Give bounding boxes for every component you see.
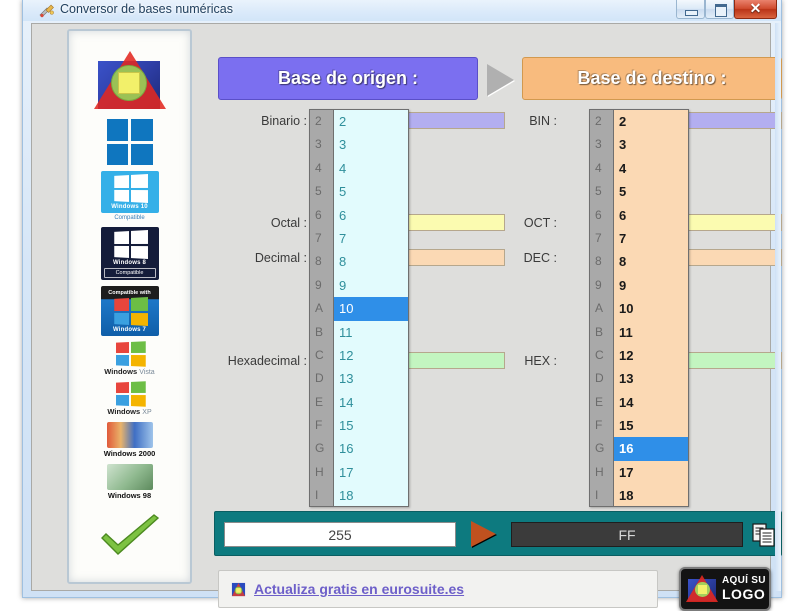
list-item[interactable]: 7 [614, 227, 688, 250]
source-gutter-char: 6 [310, 204, 333, 227]
windows-box-icon [107, 422, 153, 448]
source-gutter-char: 5 [310, 180, 333, 203]
target-row-label-0: BIN : [387, 114, 557, 128]
logo-line-2: LOGO [722, 587, 766, 602]
source-gutter-char: 2 [310, 110, 333, 133]
arrow-right-icon [487, 64, 514, 96]
target-gutter-char: I [590, 484, 613, 507]
source-row-label-1: Octal : [127, 216, 307, 230]
update-link-bar[interactable]: Actualiza gratis en eurosuite.es [218, 570, 658, 608]
source-value-input[interactable]: 255 [224, 522, 456, 547]
list-item[interactable]: 9 [614, 274, 688, 297]
list-item[interactable]: 5 [614, 180, 688, 203]
brand-logo [90, 51, 170, 113]
tools-icon [39, 3, 55, 19]
target-gutter-column: 23456789ABCDEFGHIJKLNMO [590, 110, 614, 506]
target-gutter-char: G [590, 437, 613, 460]
client-area: Windows 10 Compatible Windows 8 Compatib… [31, 23, 771, 591]
app-window: Conversor de bases numéricas ✕ Windows 1… [22, 0, 782, 598]
source-gutter-char: 4 [310, 157, 333, 180]
windows-2000-badge: Windows 2000 [99, 422, 161, 458]
target-gutter-char: D [590, 367, 613, 390]
badge-label: Windows 98 [99, 491, 161, 500]
app-icon [231, 582, 246, 597]
list-item[interactable]: 14 [334, 391, 408, 414]
result-value-output: FF [511, 522, 743, 547]
brand-logo-small [686, 573, 718, 605]
list-item[interactable]: 3 [614, 133, 688, 156]
target-base-listbox[interactable]: 23456789ABCDEFGHIJKLNMO 2345678910111213… [589, 109, 689, 507]
badge-label: Windows 2000 [99, 449, 161, 458]
target-gutter-char: 2 [590, 110, 613, 133]
convert-arrow-icon[interactable] [471, 521, 496, 547]
target-row-label-3: HEX : [387, 354, 557, 368]
list-item[interactable]: 18 [334, 484, 408, 507]
list-item[interactable]: 8 [334, 250, 408, 273]
logo-placeholder[interactable]: AQUÍ SU LOGO [679, 567, 771, 611]
source-gutter-column: 23456789ABCDEFGHIJKLNMO [310, 110, 334, 506]
badge-sublabel: Compatible [104, 268, 156, 278]
list-item[interactable]: 3 [334, 133, 408, 156]
source-gutter-char: G [310, 437, 333, 460]
target-gutter-char: 4 [590, 157, 613, 180]
list-item[interactable]: 2 [614, 110, 688, 133]
source-row-label-3: Hexadecimal : [127, 354, 307, 368]
windows-box-icon [107, 464, 153, 490]
target-gutter-char: 7 [590, 227, 613, 250]
target-base-header[interactable]: Base de destino : [522, 57, 782, 100]
list-item[interactable]: 6 [334, 204, 408, 227]
source-base-listbox[interactable]: 23456789ABCDEFGHIJKLNMO 2345678910111213… [309, 109, 409, 507]
target-gutter-char: 9 [590, 274, 613, 297]
target-row-label-1: OCT : [387, 216, 557, 230]
badge-sublabel: XP [142, 409, 151, 416]
window-edge [775, 23, 781, 591]
target-gutter-char: B [590, 321, 613, 344]
list-item[interactable]: 16 [614, 437, 688, 460]
source-row-label-0: Binario : [127, 114, 307, 128]
windows-7-badge: Compatible with Windows 7 [101, 286, 159, 336]
source-gutter-char: B [310, 321, 333, 344]
badge-sublabel: Vista [139, 369, 154, 376]
badge-label: Windows 10 [104, 204, 156, 211]
list-item[interactable]: 12 [334, 344, 408, 367]
converter-bar: 255 FF [214, 511, 782, 556]
windows-flag-icon [114, 174, 148, 203]
source-gutter-char: F [310, 414, 333, 437]
list-item[interactable]: 13 [334, 367, 408, 390]
source-gutter-char: D [310, 367, 333, 390]
maximize-button[interactable] [705, 0, 734, 19]
target-gutter-char: F [590, 414, 613, 437]
list-item[interactable]: 6 [614, 204, 688, 227]
list-item[interactable]: 4 [334, 157, 408, 180]
target-gutter-char: C [590, 344, 613, 367]
badge-label: Windows 7 [104, 327, 156, 334]
source-list-items[interactable]: 23456789101112131415161718192021222324 [334, 110, 408, 506]
source-gutter-char: H [310, 461, 333, 484]
source-base-header[interactable]: Base de origen : [218, 57, 478, 100]
target-gutter-char: 3 [590, 133, 613, 156]
minimize-button[interactable] [676, 0, 705, 19]
source-gutter-char: I [310, 484, 333, 507]
list-item[interactable]: 13 [614, 367, 688, 390]
list-item[interactable]: 17 [614, 461, 688, 484]
badge-caption: Compatible with [104, 290, 156, 296]
target-gutter-char: E [590, 391, 613, 414]
target-gutter-char: 6 [590, 204, 613, 227]
list-item[interactable]: 14 [614, 391, 688, 414]
windows-xp-badge: Windows XP [99, 382, 161, 416]
windows-98-badge: Windows 98 [99, 464, 161, 500]
target-list-items[interactable]: 23456789101112131415161718192021222324 [614, 110, 688, 506]
list-item[interactable]: 16 [334, 437, 408, 460]
list-item[interactable]: 11 [334, 321, 408, 344]
list-item[interactable]: 15 [614, 414, 688, 437]
source-gutter-char: 7 [310, 227, 333, 250]
list-item[interactable]: 10 [614, 297, 688, 320]
source-gutter-char: 8 [310, 250, 333, 273]
target-row-label-2: DEC : [387, 251, 557, 265]
target-gutter-char: H [590, 461, 613, 484]
title-bar[interactable]: Conversor de bases numéricas ✕ [23, 0, 781, 21]
close-button[interactable]: ✕ [734, 0, 777, 19]
list-item[interactable]: 2 [334, 110, 408, 133]
target-gutter-char: 5 [590, 180, 613, 203]
close-icon: ✕ [735, 0, 776, 18]
badge-label: Windows [104, 367, 137, 376]
windows-flag-icon [116, 381, 146, 406]
list-item[interactable]: 18 [614, 484, 688, 507]
source-gutter-char: E [310, 391, 333, 414]
list-item[interactable]: 9 [334, 274, 408, 297]
badge-label: Windows [107, 407, 140, 416]
copy-icon[interactable] [751, 522, 777, 548]
compatibility-sidebar: Windows 10 Compatible Windows 8 Compatib… [67, 29, 192, 584]
source-gutter-char: A [310, 297, 333, 320]
windows-flag-icon [114, 297, 148, 326]
list-item[interactable]: 5 [334, 180, 408, 203]
target-gutter-char: 8 [590, 250, 613, 273]
list-item[interactable]: 10 [334, 297, 408, 320]
target-gutter-char: A [590, 297, 613, 320]
check-badge [98, 514, 162, 558]
update-link[interactable]: Actualiza gratis en eurosuite.es [254, 581, 464, 597]
windows-10-badge: Windows 10 Compatible [101, 171, 159, 221]
list-item[interactable]: 4 [614, 157, 688, 180]
source-gutter-char: 9 [310, 274, 333, 297]
list-item[interactable]: 12 [614, 344, 688, 367]
source-gutter-char: C [310, 344, 333, 367]
window-title: Conversor de bases numéricas [60, 2, 233, 16]
list-item[interactable]: 7 [334, 227, 408, 250]
source-row-label-2: Decimal : [127, 251, 307, 265]
list-item[interactable]: 15 [334, 414, 408, 437]
list-item[interactable]: 8 [614, 250, 688, 273]
list-item[interactable]: 11 [614, 321, 688, 344]
source-gutter-char: 3 [310, 133, 333, 156]
list-item[interactable]: 17 [334, 461, 408, 484]
